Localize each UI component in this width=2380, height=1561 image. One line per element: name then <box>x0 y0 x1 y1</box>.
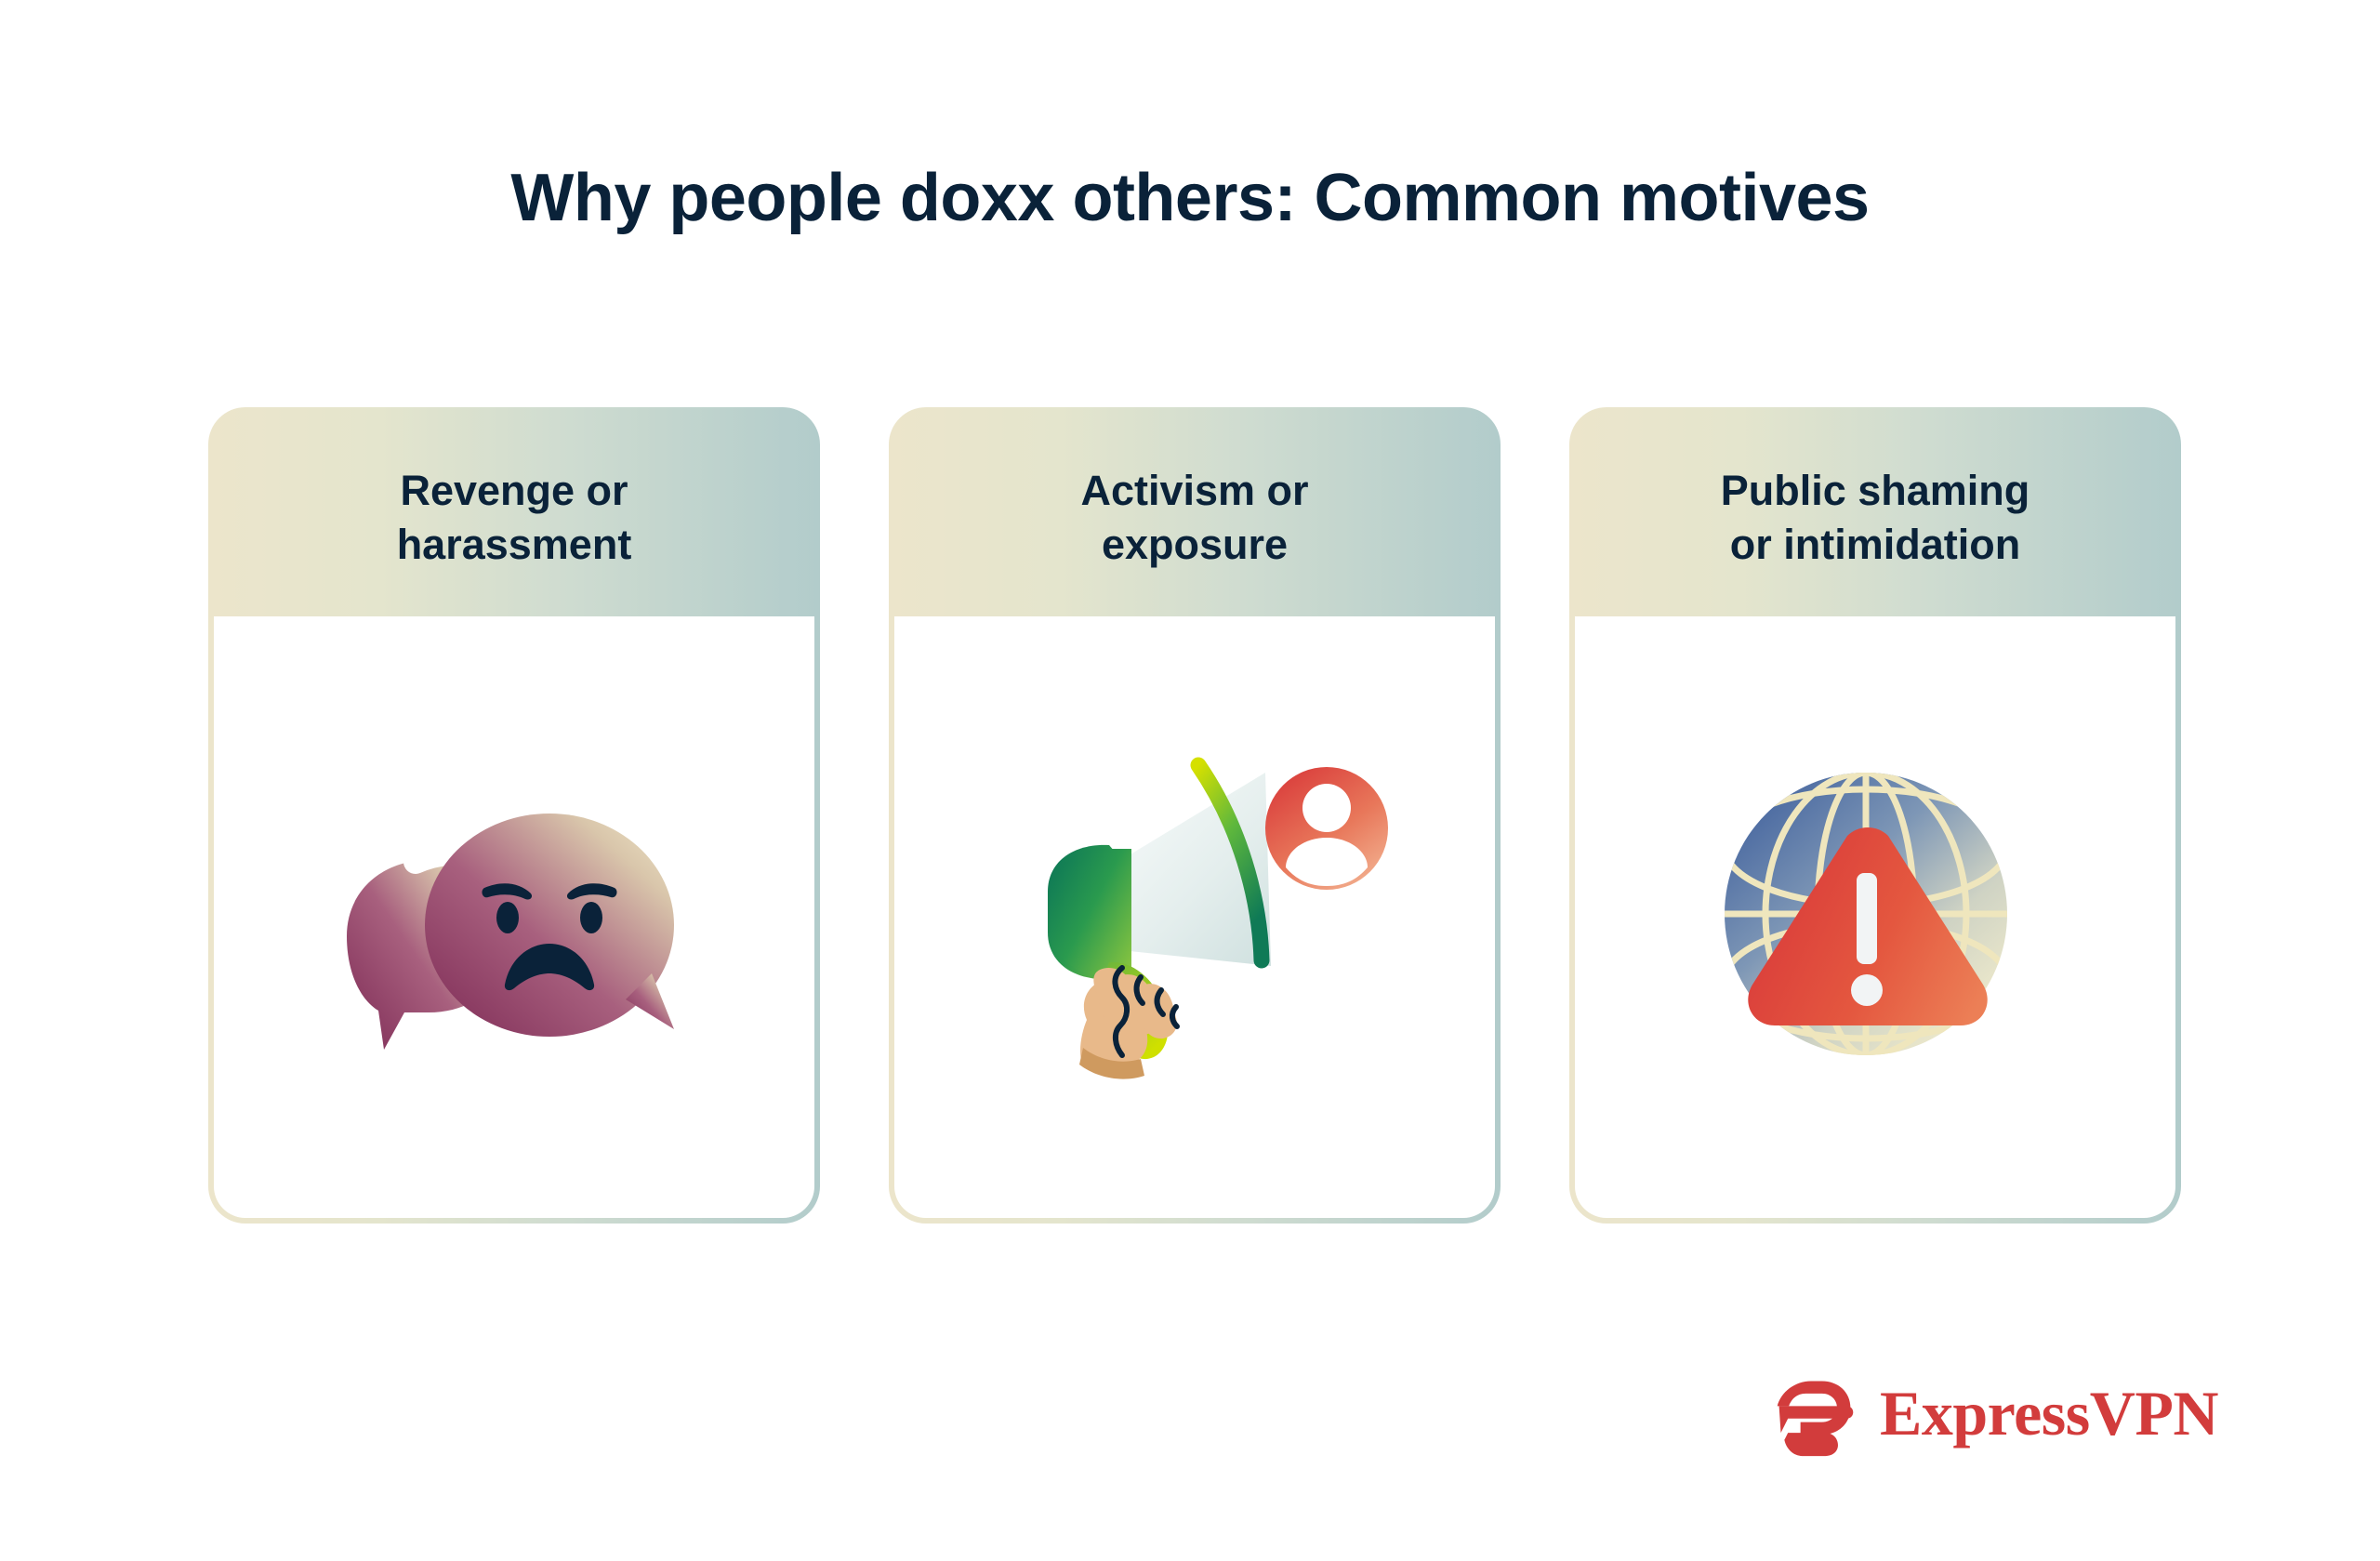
megaphone-with-user-avatar-icon <box>894 616 1495 1218</box>
user-avatar-icon <box>1265 767 1388 890</box>
globe-with-warning-triangle-icon <box>1575 616 2175 1218</box>
infographic-canvas: Why people doxx others: Common motives R… <box>0 0 2380 1561</box>
expressvpn-e-mark-icon <box>1770 1369 1859 1458</box>
expressvpn-wordmark: ExpressVPN <box>1880 1382 2218 1445</box>
page-title: Why people doxx others: Common motives <box>0 160 2380 237</box>
motive-card-public-shaming-or-intimidation[interactable]: Public shaming or intimidation <box>1569 407 2181 1224</box>
hand-icon <box>1079 968 1177 1079</box>
expressvpn-logo[interactable]: ExpressVPN <box>1770 1369 2218 1458</box>
front-speech-bubble <box>425 814 674 1037</box>
angry-speech-bubbles-icon <box>214 616 814 1218</box>
motive-card-activism-or-exposure[interactable]: Activism or exposure <box>889 407 1501 1224</box>
motive-card-row: Revenge or harassment <box>208 407 2181 1224</box>
motive-card-revenge-or-harassment[interactable]: Revenge or harassment <box>208 407 820 1224</box>
